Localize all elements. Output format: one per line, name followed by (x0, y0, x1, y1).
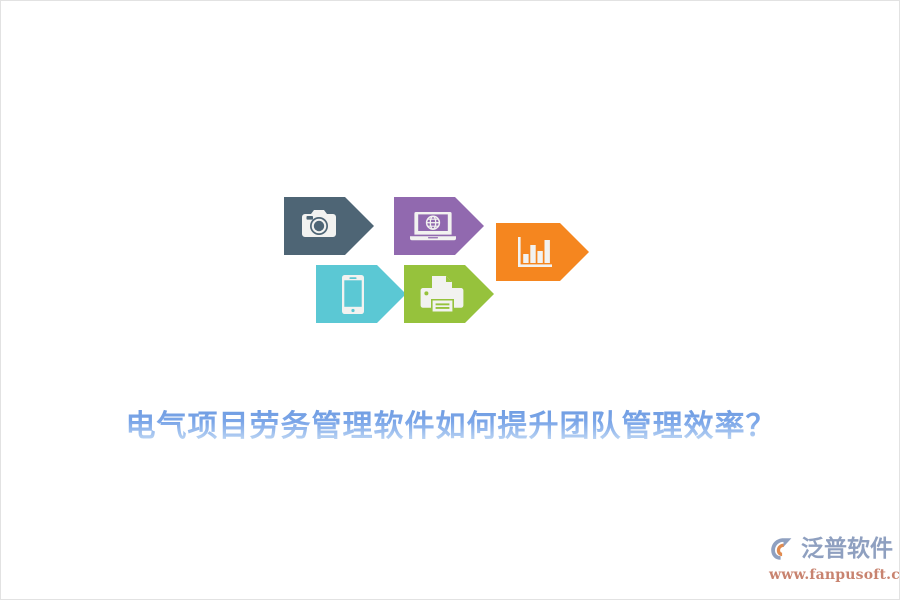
fanpu-logo-mark-icon (769, 535, 799, 563)
camera-icon (302, 210, 336, 237)
logo-url: www.fanpusoft.com (769, 566, 893, 584)
chevron-laptop-globe (394, 197, 484, 255)
chevron-camera-shape (284, 197, 374, 255)
chevron-smartphone-shape (316, 265, 406, 323)
chevron-smartphone (316, 265, 406, 323)
logo-row: 泛普软件 (769, 533, 893, 565)
chevron-printer (404, 265, 494, 323)
chevron-camera (284, 197, 374, 255)
chevron-printer-shape (404, 265, 494, 323)
smartphone-icon (342, 275, 364, 314)
chevron-bar-chart-shape (496, 223, 589, 281)
logo-wordmark: 泛普软件 (801, 535, 893, 563)
page-headline: 电气项目劳务管理软件如何提升团队管理效率？ (1, 405, 900, 449)
device-chevron-cluster (284, 197, 589, 332)
chevron-bar-chart (496, 223, 589, 281)
brand-watermark: 泛普软件 www.fanpusoft.com (769, 533, 893, 585)
page-frame: 电气项目劳务管理软件如何提升团队管理效率？ 泛普软件 www.fanpusoft… (0, 0, 900, 600)
chevron-laptop-shape (394, 197, 484, 255)
